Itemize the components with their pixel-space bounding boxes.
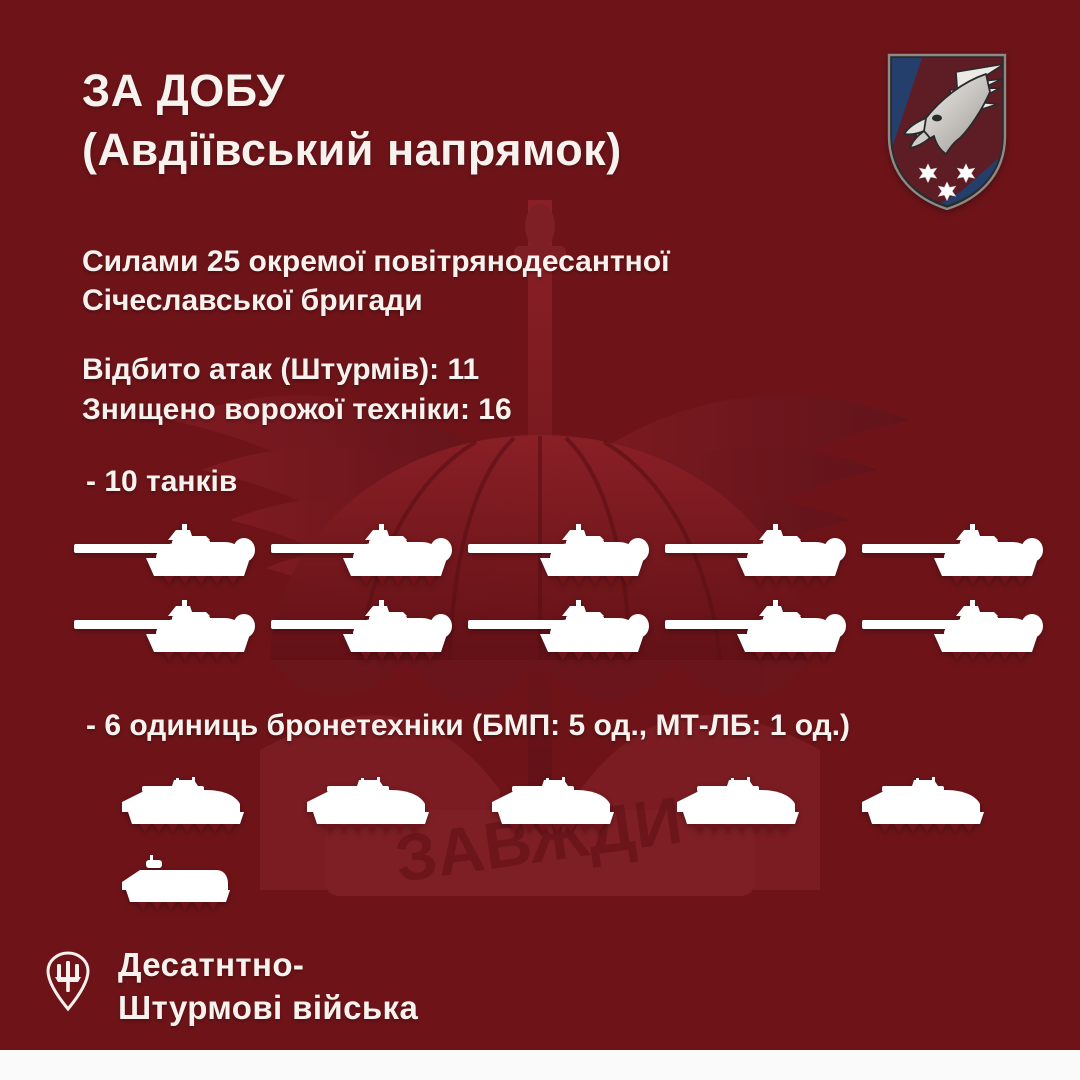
ifv-icon — [305, 772, 437, 834]
parachute-icon — [44, 950, 92, 1012]
body-text: Силами 25 окремої повітрянодесантної Січ… — [82, 242, 962, 430]
tank-slot — [466, 516, 663, 590]
tank-icon — [860, 592, 1048, 666]
ifv-slot — [120, 772, 305, 834]
stat-equipment-destroyed: Знищено ворожої техніки: 16 — [82, 390, 962, 430]
tank-slot — [269, 592, 466, 666]
section-armor: - 6 одиниць бронетехніки (БМП: 5 од., МТ… — [0, 708, 1080, 910]
stat-attacks-repelled: Відбито атак (Штурмів): 11 — [82, 350, 962, 390]
mtlb-slot — [120, 852, 305, 910]
footer-branch-name: Десатнтно- Штурмові війська — [118, 944, 418, 1030]
tank-icon — [663, 592, 851, 666]
armor-icon-grid — [0, 758, 1080, 910]
tank-slot — [663, 516, 860, 590]
poster: ЗАВЖДИ ЗА ДОБУ (Авдіївський напрямок) — [0, 0, 1080, 1080]
tank-slot — [663, 592, 860, 666]
bottom-strip — [0, 1050, 1080, 1080]
ifv-slot — [490, 772, 675, 834]
ifv-icon — [490, 772, 622, 834]
ifv-slot — [305, 772, 490, 834]
tank-row — [0, 514, 1080, 590]
tank-icon — [269, 516, 457, 590]
tank-icon — [72, 592, 260, 666]
unit-description: Силами 25 окремої повітрянодесантної Січ… — [82, 242, 962, 320]
tank-icon — [269, 592, 457, 666]
section-armor-label: - 6 одиниць бронетехніки (БМП: 5 од., МТ… — [0, 708, 1080, 744]
tank-icon-grid — [0, 514, 1080, 666]
tank-icon — [466, 592, 654, 666]
armor-row — [0, 758, 1080, 834]
tank-icon — [860, 516, 1048, 590]
mtlb-icon — [120, 852, 238, 910]
tank-row — [0, 590, 1080, 666]
25th-airborne-brigade-emblem — [884, 52, 1010, 210]
section-tanks: - 10 танків — [0, 464, 1080, 666]
tank-slot — [466, 592, 663, 666]
ifv-icon — [675, 772, 807, 834]
header: ЗА ДОБУ (Авдіївський напрямок) — [0, 0, 1080, 210]
tank-slot — [860, 592, 1057, 666]
stats-block: Відбито атак (Штурмів): 11 Знищено ворож… — [82, 350, 962, 430]
tank-icon — [72, 516, 260, 590]
ifv-icon — [860, 772, 992, 834]
tank-slot — [72, 592, 269, 666]
tank-icon — [663, 516, 851, 590]
tank-slot — [269, 516, 466, 590]
footer: Десатнтно- Штурмові війська — [44, 944, 418, 1030]
section-tanks-label: - 10 танків — [0, 464, 1080, 500]
page-title: ЗА ДОБУ (Авдіївський напрямок) — [82, 62, 622, 179]
tank-slot — [72, 516, 269, 590]
ifv-slot — [675, 772, 860, 834]
armor-row — [0, 834, 1080, 910]
ifv-icon — [120, 772, 252, 834]
tank-slot — [860, 516, 1057, 590]
ifv-slot — [860, 772, 1045, 834]
tank-icon — [466, 516, 654, 590]
